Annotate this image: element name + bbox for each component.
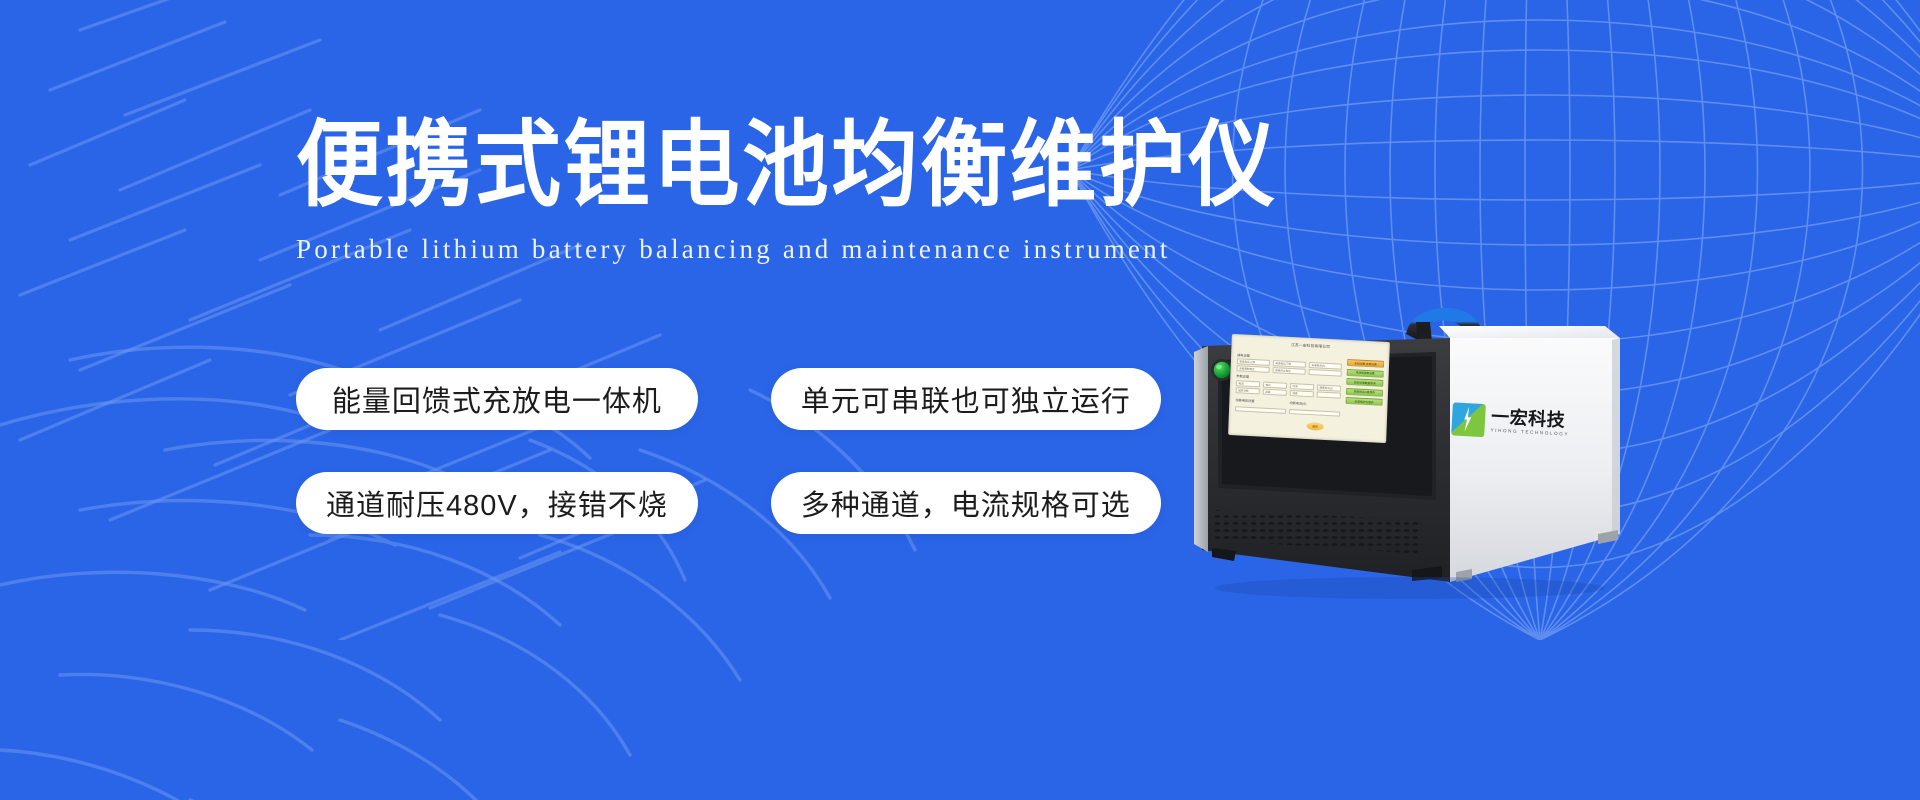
- feature-pill[interactable]: 通道耐压480V，接错不烧: [296, 472, 698, 534]
- case-top: [1439, 326, 1620, 338]
- promo-banner: 便携式锂电池均衡维护仪 Portable lithium battery bal…: [0, 0, 1920, 800]
- screen-button[interactable]: 系统维护与保护: [1345, 397, 1382, 406]
- screen-sub-label: 均衡电流(A): [1289, 400, 1340, 408]
- device-touchscreen[interactable]: 江苏一宏科技有限公司 通电设置 单体电压上限 单体电压下限 充电电流(A) 充电…: [1228, 334, 1390, 443]
- screen-field[interactable]: 电流: [1236, 380, 1260, 387]
- case-side-panel: [1450, 338, 1620, 582]
- screen-field[interactable]: 温度: [1290, 390, 1314, 397]
- screen-field[interactable]: 充电限制电压: [1237, 366, 1270, 373]
- screen-field[interactable]: 电压: [1263, 382, 1287, 389]
- diagonal-streaks-top-left: [0, 0, 720, 640]
- lightning-bolt-icon: [1451, 402, 1486, 437]
- case-left-edge: [1194, 346, 1208, 552]
- screen-field[interactable]: [1309, 369, 1342, 376]
- feature-pill[interactable]: 多种通道，电流规格可选: [771, 472, 1161, 534]
- screen-field[interactable]: [1235, 406, 1286, 414]
- screen-field[interactable]: 充电电流(A): [1309, 362, 1342, 369]
- feature-pill-list: 能量回馈式充放电一体机 单元可串联也可独立运行 通道耐压480V，接错不烧 多种…: [296, 368, 1161, 534]
- screen-field[interactable]: 循环次数: [1236, 388, 1260, 395]
- screen-field[interactable]: [1317, 392, 1341, 399]
- screen-button[interactable]: 电池组参数设置: [1347, 369, 1384, 378]
- brand-name-cn: 一宏科技: [1491, 408, 1571, 430]
- screen-start-button[interactable]: 启动: [1306, 422, 1323, 431]
- screen-field[interactable]: 单体电压下限: [1273, 360, 1306, 367]
- screen-field[interactable]: 静置时间(s): [1317, 384, 1341, 391]
- screen-field[interactable]: 时间: [1290, 383, 1314, 390]
- feature-pill[interactable]: 能量回馈式充放电一体机: [296, 368, 698, 430]
- brand-logo: 一宏科技 YIHONG TECHNOLOGY: [1451, 396, 1587, 447]
- screen-field[interactable]: [1289, 409, 1340, 417]
- screen-action-buttons: 系统设置 参数设置 电池组参数设置 历史记录数据查询 数据导出U盘保存 系统维护…: [1345, 355, 1384, 421]
- device-chassis-illustration: [1150, 282, 1640, 612]
- feature-pill[interactable]: 单元可串联也可独立运行: [771, 368, 1161, 430]
- screen-form-area: 通电设置 单体电压上限 单体电压下限 充电电流(A) 充电限制电压 放电终止电压…: [1235, 349, 1342, 418]
- screen-field[interactable]: 单体电压上限: [1237, 358, 1270, 365]
- brand-name-block: 一宏科技 YIHONG TECHNOLOGY: [1490, 408, 1570, 437]
- screen-field[interactable]: 放电终止电压: [1273, 367, 1306, 374]
- headline-block: 便携式锂电池均衡维护仪 Portable lithium battery bal…: [296, 118, 1146, 265]
- screen-button[interactable]: 数据导出U盘保存: [1346, 388, 1383, 397]
- screen-button[interactable]: 历史记录数据查询: [1346, 378, 1383, 387]
- page-title: 便携式锂电池均衡维护仪: [296, 118, 1078, 212]
- screen-section-heading: 均衡电压设置: [1235, 397, 1286, 405]
- screen-field[interactable]: 容量: [1263, 389, 1287, 396]
- power-indicator: [1214, 362, 1231, 379]
- page-subtitle: Portable lithium battery balancing and m…: [296, 234, 1146, 265]
- screen-button[interactable]: 系统设置 参数设置: [1347, 359, 1384, 368]
- product-image: 江苏一宏科技有限公司 通电设置 单体电压上限 单体电压下限 充电电流(A) 充电…: [1150, 282, 1640, 612]
